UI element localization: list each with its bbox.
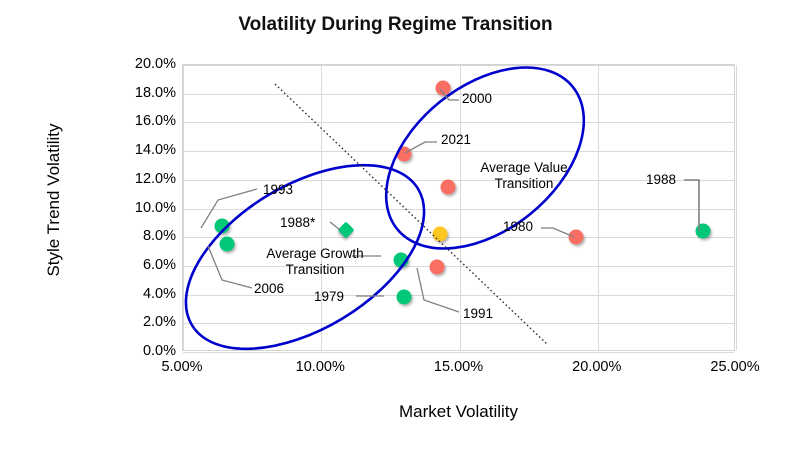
y-axis-title: Style Trend Volatility <box>44 100 64 300</box>
label-1988-right: 1988 <box>646 172 676 187</box>
label-1979: 1979 <box>314 289 344 304</box>
label-1980: 1980 <box>503 219 533 234</box>
label-1993: 1993 <box>263 182 293 197</box>
label-average-value-transition: Average Value Transition <box>464 160 584 191</box>
x-axis-tick-labels: 5.00%10.00%15.00%20.00%25.00% <box>0 0 791 449</box>
x-axis-title: Market Volatility <box>182 402 735 422</box>
x-tick-label: 5.00% <box>161 359 202 375</box>
label-2006: 2006 <box>254 281 284 296</box>
label-2021: 2021 <box>441 132 471 147</box>
label-1991: 1991 <box>463 306 493 321</box>
x-tick-label: 10.00% <box>296 359 345 375</box>
label-1988-star: 1988* <box>280 215 315 230</box>
label-2000: 2000 <box>462 91 492 106</box>
x-tick-label: 25.00% <box>710 359 759 375</box>
label-average-growth-transition: Average Growth Transition <box>255 246 375 277</box>
x-tick-label: 20.00% <box>572 359 621 375</box>
scatter-chart: Volatility During Regime Transition 0.0%… <box>0 0 791 449</box>
x-tick-label: 15.00% <box>434 359 483 375</box>
